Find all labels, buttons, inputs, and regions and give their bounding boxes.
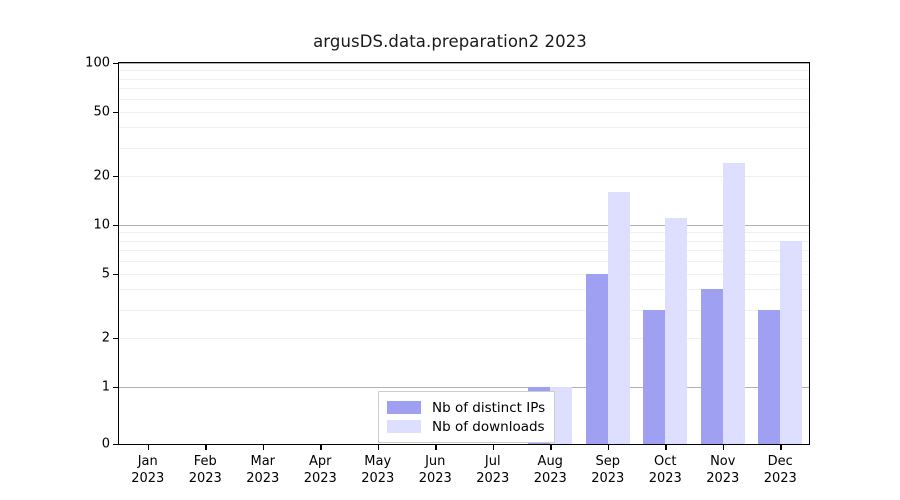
chart-title: argusDS.data.preparation2 2023 — [0, 32, 900, 51]
legend-item[interactable]: Nb of downloads — [387, 417, 545, 436]
x-tick-label-year: 2023 — [304, 470, 337, 487]
x-tick-mark — [320, 444, 321, 450]
y-tick-mark — [113, 444, 119, 445]
x-tick-mark — [493, 444, 494, 450]
legend-label: Nb of distinct IPs — [432, 400, 545, 416]
x-tick-mark — [378, 444, 379, 450]
x-tick-label-month: Jan — [131, 453, 164, 470]
x-tick-label-year: 2023 — [189, 470, 222, 487]
x-tick-mark — [148, 444, 149, 450]
x-tick-label-year: 2023 — [361, 470, 394, 487]
x-tick-label-month: Jun — [419, 453, 452, 470]
y-tick-label: 100 — [85, 56, 110, 71]
x-tick-label-month: Aug — [534, 453, 567, 470]
y-tick-mark — [113, 63, 119, 64]
x-tick-mark — [608, 444, 609, 450]
legend-label: Nb of downloads — [432, 419, 545, 435]
x-tick-label-year: 2023 — [246, 470, 279, 487]
y-tick-label: 50 — [93, 104, 110, 119]
x-tick-label: Apr2023 — [304, 453, 337, 487]
x-tick-mark — [665, 444, 666, 450]
x-tick-mark — [205, 444, 206, 450]
x-tick-label: Nov2023 — [706, 453, 739, 487]
x-tick-label-year: 2023 — [764, 470, 797, 487]
bar-downloads — [665, 218, 687, 444]
x-tick-label-month: Sep — [591, 453, 624, 470]
x-tick-mark — [435, 444, 436, 450]
x-tick-label-year: 2023 — [706, 470, 739, 487]
x-tick-label-month: Jul — [476, 453, 509, 470]
y-tick-mark — [113, 387, 119, 388]
y-tick-mark — [113, 274, 119, 275]
x-tick-label: Dec2023 — [764, 453, 797, 487]
y-tick-mark — [113, 176, 119, 177]
y-tick-mark — [113, 338, 119, 339]
bar-downloads — [780, 241, 802, 444]
y-tick-mark — [113, 112, 119, 113]
y-tick-label: 0 — [102, 437, 110, 452]
x-tick-mark — [780, 444, 781, 450]
x-tick-mark — [550, 444, 551, 450]
y-tick-label: 10 — [93, 217, 110, 232]
x-tick-label-month: Feb — [189, 453, 222, 470]
x-tick-label-month: Oct — [649, 453, 682, 470]
legend-swatch-icon — [387, 420, 421, 433]
y-tick-label: 20 — [93, 169, 110, 184]
x-tick-label-month: Apr — [304, 453, 337, 470]
bar-downloads — [723, 163, 745, 444]
bar-distinct-ips — [643, 310, 665, 444]
x-tick-label: Jun2023 — [419, 453, 452, 487]
x-tick-label-month: Mar — [246, 453, 279, 470]
x-tick-label: Mar2023 — [246, 453, 279, 487]
plot-area: 0125102050100Jan2023Feb2023Mar2023Apr202… — [118, 62, 810, 445]
x-tick-mark — [263, 444, 264, 450]
legend-swatch-icon — [387, 401, 421, 414]
bar-distinct-ips — [758, 310, 780, 444]
x-tick-mark — [723, 444, 724, 450]
x-tick-label-month: Nov — [706, 453, 739, 470]
bar-downloads — [608, 192, 630, 444]
y-tick-mark — [113, 225, 119, 226]
x-tick-label: Aug2023 — [534, 453, 567, 487]
x-tick-label: Sep2023 — [591, 453, 624, 487]
x-tick-label-year: 2023 — [591, 470, 624, 487]
x-tick-label-year: 2023 — [649, 470, 682, 487]
y-tick-label: 5 — [102, 266, 110, 281]
x-tick-label-year: 2023 — [419, 470, 452, 487]
chart-legend: Nb of distinct IPsNb of downloads — [378, 391, 555, 443]
x-tick-label-year: 2023 — [131, 470, 164, 487]
x-tick-label: May2023 — [361, 453, 394, 487]
x-tick-label: Feb2023 — [189, 453, 222, 487]
bars — [119, 63, 809, 444]
x-tick-label: Jan2023 — [131, 453, 164, 487]
x-tick-label-month: Dec — [764, 453, 797, 470]
y-tick-label: 2 — [102, 331, 110, 346]
x-tick-label-year: 2023 — [534, 470, 567, 487]
chart-figure: argusDS.data.preparation2 2023 012510205… — [0, 0, 900, 500]
x-tick-label: Jul2023 — [476, 453, 509, 487]
y-tick-label: 1 — [102, 379, 110, 394]
legend-item[interactable]: Nb of distinct IPs — [387, 398, 545, 417]
x-tick-label-month: May — [361, 453, 394, 470]
bar-distinct-ips — [586, 274, 608, 444]
x-tick-label: Oct2023 — [649, 453, 682, 487]
bar-distinct-ips — [701, 289, 723, 444]
x-tick-label-year: 2023 — [476, 470, 509, 487]
